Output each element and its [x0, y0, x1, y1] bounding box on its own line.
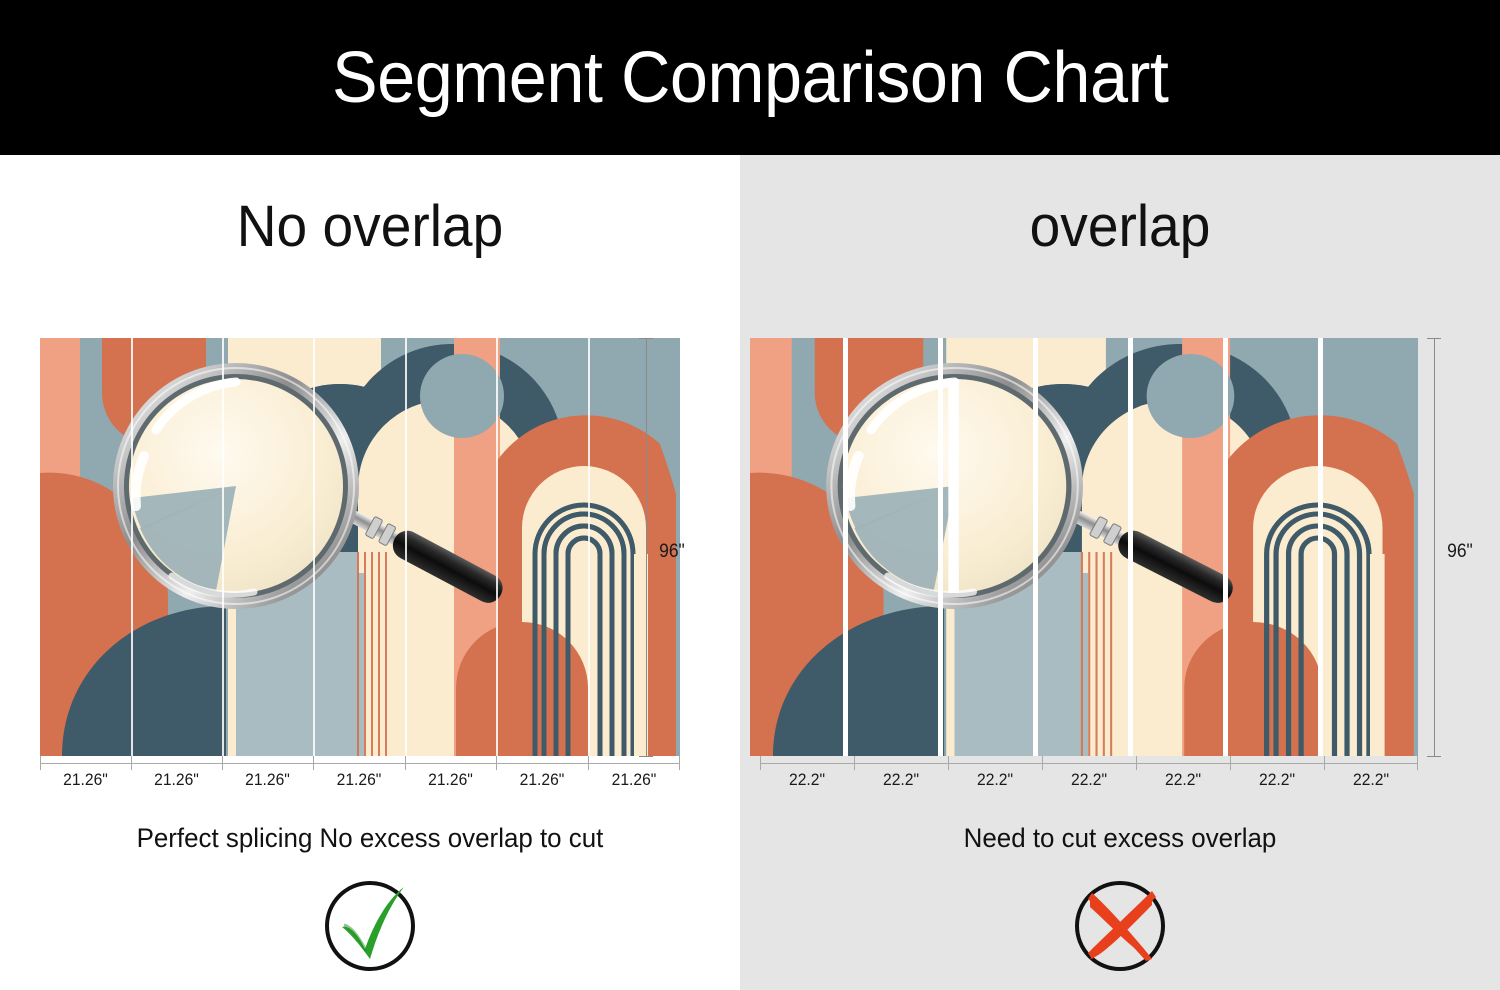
height-label-left: 96": [659, 541, 685, 563]
dim-tick: [948, 756, 949, 770]
height-dimension-line-right: [1434, 338, 1435, 756]
status-badge-cross: [1068, 873, 1172, 977]
check-mark-icon: [318, 873, 422, 977]
height-dimension-cap-bottom-right: [1427, 756, 1441, 757]
cross-mark-icon: [1068, 873, 1172, 977]
segment-label: 21.26": [135, 770, 219, 790]
wallpaper-art-right: [750, 338, 1418, 756]
segment-label: 22.2": [1234, 770, 1320, 790]
segment-label: 22.2": [1140, 770, 1226, 790]
page-title: Segment Comparison Chart: [332, 42, 1168, 114]
dim-tick: [1417, 756, 1418, 770]
segment-labels-left: 21.26" 21.26" 21.26" 21.26" 21.26" 21.26…: [40, 770, 680, 790]
caption-right: Need to cut excess overlap: [755, 823, 1485, 854]
dim-tick: [588, 756, 589, 770]
segment-label: 22.2": [952, 770, 1038, 790]
segment-label: 21.26": [317, 770, 402, 790]
segment-label: 22.2": [1328, 770, 1414, 790]
dim-tick: [1230, 756, 1231, 770]
height-label-right: 96": [1447, 541, 1473, 563]
dim-tick: [1136, 756, 1137, 770]
segment-labels-right: 22.2" 22.2" 22.2" 22.2" 22.2" 22.2" 22.2…: [760, 770, 1418, 790]
panel-no-overlap: No overlap: [0, 155, 740, 990]
dim-tick: [1042, 756, 1043, 770]
height-dimension-cap-top-right: [1427, 338, 1441, 339]
title-banner: Segment Comparison Chart: [0, 0, 1500, 155]
panel-overlap: overlap: [740, 155, 1500, 990]
caption-left: Perfect splicing No excess overlap to cu…: [15, 823, 725, 854]
dim-tick: [854, 756, 855, 770]
status-badge-check: [318, 873, 422, 977]
wallpaper-preview-left: [40, 338, 680, 756]
dim-tick: [40, 756, 41, 770]
dim-tick: [405, 756, 406, 770]
dim-tick: [760, 756, 761, 770]
dim-tick: [496, 756, 497, 770]
comparison-panels: No overlap: [0, 155, 1500, 990]
width-dimension-line-right: [760, 763, 1418, 764]
width-dimension-line-left: [40, 763, 680, 764]
dim-tick: [679, 756, 680, 770]
dim-tick: [222, 756, 223, 770]
segment-label: 22.2": [1046, 770, 1132, 790]
segment-label: 22.2": [764, 770, 850, 790]
dim-tick: [131, 756, 132, 770]
segment-label: 21.26": [592, 770, 677, 790]
wallpaper-svg-right: [750, 338, 1418, 756]
panel-heading-left: No overlap: [19, 193, 722, 260]
panel-heading-right: overlap: [759, 193, 1481, 260]
page-root: Segment Comparison Chart No overlap: [0, 0, 1500, 990]
wallpaper-art-left: [40, 338, 680, 756]
height-dimension-line-left: [646, 338, 647, 756]
height-dimension-cap-top-left: [639, 338, 653, 339]
segment-label: 21.26": [226, 770, 310, 790]
height-dimension-cap-bottom-left: [639, 756, 653, 757]
segment-label: 22.2": [858, 770, 944, 790]
wallpaper-svg-left: [40, 338, 680, 756]
segment-label: 21.26": [500, 770, 585, 790]
segment-label: 21.26": [44, 770, 128, 790]
segment-label: 21.26": [409, 770, 493, 790]
wallpaper-preview-right: [750, 338, 1418, 756]
dim-tick: [1324, 756, 1325, 770]
dim-tick: [313, 756, 314, 770]
